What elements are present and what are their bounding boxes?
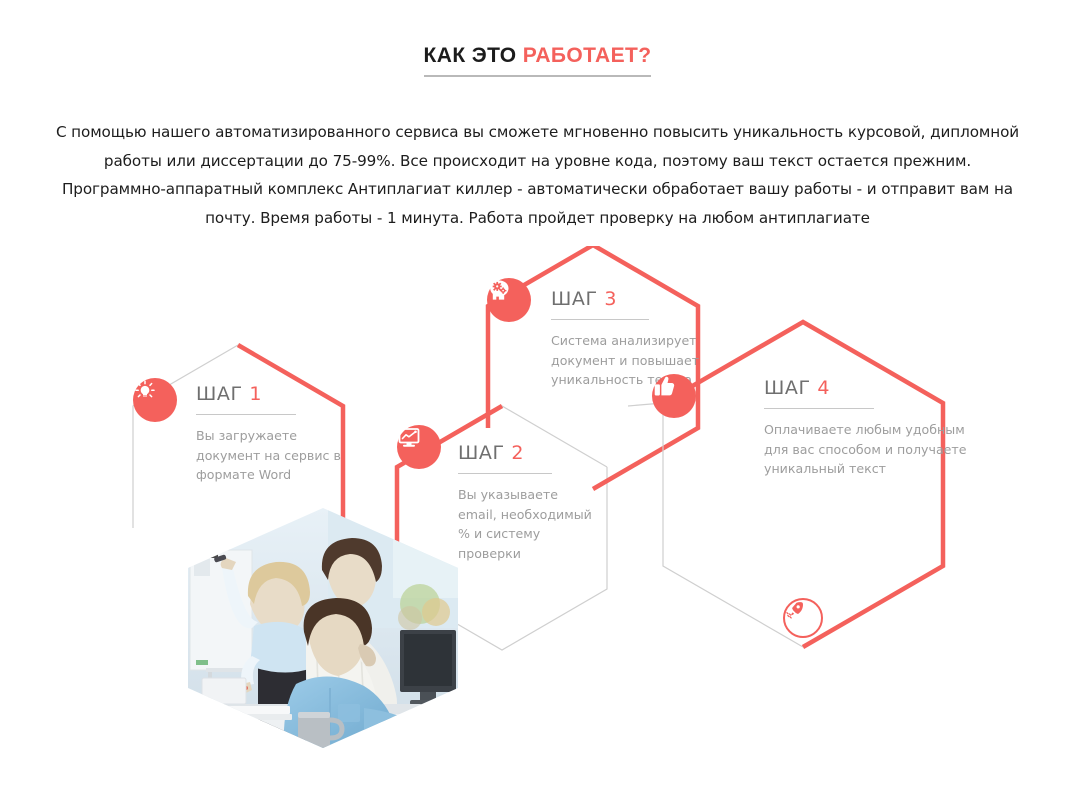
step-2-number: 2 xyxy=(511,442,524,464)
step-1-block: ШАГ 1 Вы загружаете документ на сервис в… xyxy=(196,383,348,485)
page-title-wrapper: КАК ЭТО РАБОТАЕТ? xyxy=(0,44,1075,77)
intro-paragraph: С помощью нашего автоматизированного сер… xyxy=(50,118,1025,232)
step-1-label-prefix: ШАГ xyxy=(196,383,243,405)
step-1-rule xyxy=(196,414,296,415)
page-title: КАК ЭТО РАБОТАЕТ? xyxy=(424,44,652,77)
monitor-chart-icon[interactable] xyxy=(397,425,441,469)
steps-diagram: ШАГ 1 Вы загружаете документ на сервис в… xyxy=(0,246,1075,796)
step-2-block: ШАГ 2 Вы указываете email, необходимый %… xyxy=(458,442,598,563)
lightbulb-icon[interactable] xyxy=(133,378,177,422)
how-it-works-section: КАК ЭТО РАБОТАЕТ? С помощью нашего автом… xyxy=(0,0,1075,796)
step-3-label-prefix: ШАГ xyxy=(551,288,598,310)
thumbs-up-icon[interactable] xyxy=(652,374,696,418)
step-2-label-prefix: ШАГ xyxy=(458,442,505,464)
page-title-plain: КАК ЭТО xyxy=(424,44,523,67)
step-4-description: Оплачиваете любым удобным для вас способ… xyxy=(764,420,969,479)
step-1-label: ШАГ 1 xyxy=(196,383,348,405)
step-3-label: ШАГ 3 xyxy=(551,288,703,310)
step-1-description: Вы загружаете документ на сервис в форма… xyxy=(196,426,348,485)
step-2-rule xyxy=(458,473,552,474)
step-3-number: 3 xyxy=(604,288,617,310)
step-4-block: ШАГ 4 Оплачиваете любым удобным для вас … xyxy=(764,377,969,479)
step-3-rule xyxy=(551,319,649,320)
page-title-highlight: РАБОТАЕТ? xyxy=(523,44,652,67)
rocket-icon[interactable] xyxy=(783,598,823,638)
step-2-label: ШАГ 2 xyxy=(458,442,598,464)
step-4-rule xyxy=(764,408,874,409)
head-gears-icon[interactable] xyxy=(487,278,531,322)
step-4-number: 4 xyxy=(817,377,830,399)
step-2-description: Вы указываете email, необходимый % и сис… xyxy=(458,485,598,563)
step-1-number: 1 xyxy=(249,383,262,405)
step-4-label: ШАГ 4 xyxy=(764,377,969,399)
step-4-label-prefix: ШАГ xyxy=(764,377,811,399)
